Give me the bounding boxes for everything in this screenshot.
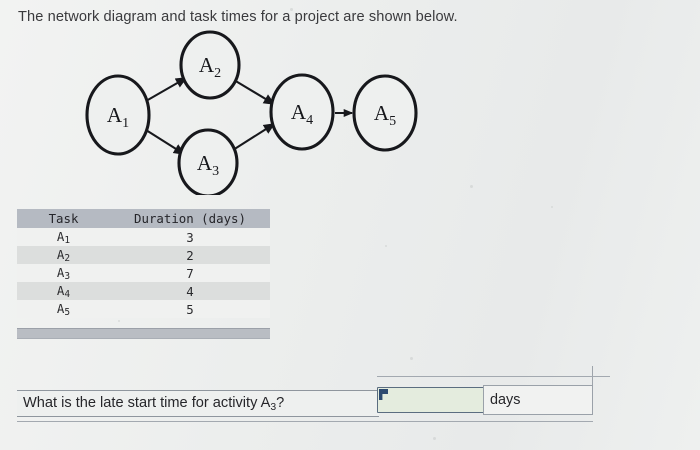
- node-a5: A5: [354, 76, 416, 150]
- cell-task: A3: [17, 265, 110, 282]
- page-title: The network diagram and task times for a…: [18, 9, 458, 25]
- node-a4: A4: [271, 75, 333, 149]
- node-a2: A2: [181, 32, 239, 98]
- cell-task: A5: [17, 301, 110, 318]
- unit-label: days: [484, 392, 520, 408]
- unit-cell: days: [483, 385, 593, 415]
- table-row: A1 3: [17, 228, 270, 246]
- cell-duration: 5: [110, 302, 270, 317]
- question-text: What is the late start time for activity…: [17, 395, 284, 413]
- node-a3: A3: [179, 130, 237, 195]
- answer-bottom-divider: [17, 421, 593, 422]
- table-row: A3 7: [17, 264, 270, 282]
- cell-duration: 3: [110, 230, 270, 245]
- answer-input-wrapper[interactable]: [377, 387, 484, 413]
- cell-duration: 4: [110, 284, 270, 299]
- table-row: A5 5: [17, 300, 270, 318]
- table-row: A2 2: [17, 246, 270, 264]
- column-header-duration: Duration (days): [110, 211, 270, 226]
- answer-input[interactable]: [377, 387, 484, 413]
- answer-top-divider: [377, 376, 610, 377]
- cell-duration: 2: [110, 248, 270, 263]
- table-header-row: Task Duration (days): [17, 209, 270, 228]
- network-diagram-svg: A1 A2 A3 A4 A5: [60, 30, 460, 195]
- edge-a1-a2: [146, 78, 186, 101]
- edge-a1-a3: [146, 130, 184, 154]
- node-a1: A1: [87, 76, 149, 154]
- cell-duration: 7: [110, 266, 270, 281]
- column-header-task: Task: [17, 211, 110, 226]
- table-row: A4 4: [17, 282, 270, 300]
- table-footer-bar: [17, 328, 270, 339]
- edge-a3-a4: [233, 124, 274, 150]
- edge-a2-a4: [234, 80, 274, 104]
- cell-task: A1: [17, 229, 110, 246]
- cell-task: A4: [17, 283, 110, 300]
- answer-row: What is the late start time for activity…: [17, 385, 593, 415]
- cell-task: A2: [17, 247, 110, 264]
- task-duration-table: Task Duration (days) A1 3 A2 2 A3 7 A4 4…: [17, 209, 270, 318]
- network-diagram: A1 A2 A3 A4 A5: [60, 30, 460, 195]
- question-cell: What is the late start time for activity…: [17, 390, 379, 417]
